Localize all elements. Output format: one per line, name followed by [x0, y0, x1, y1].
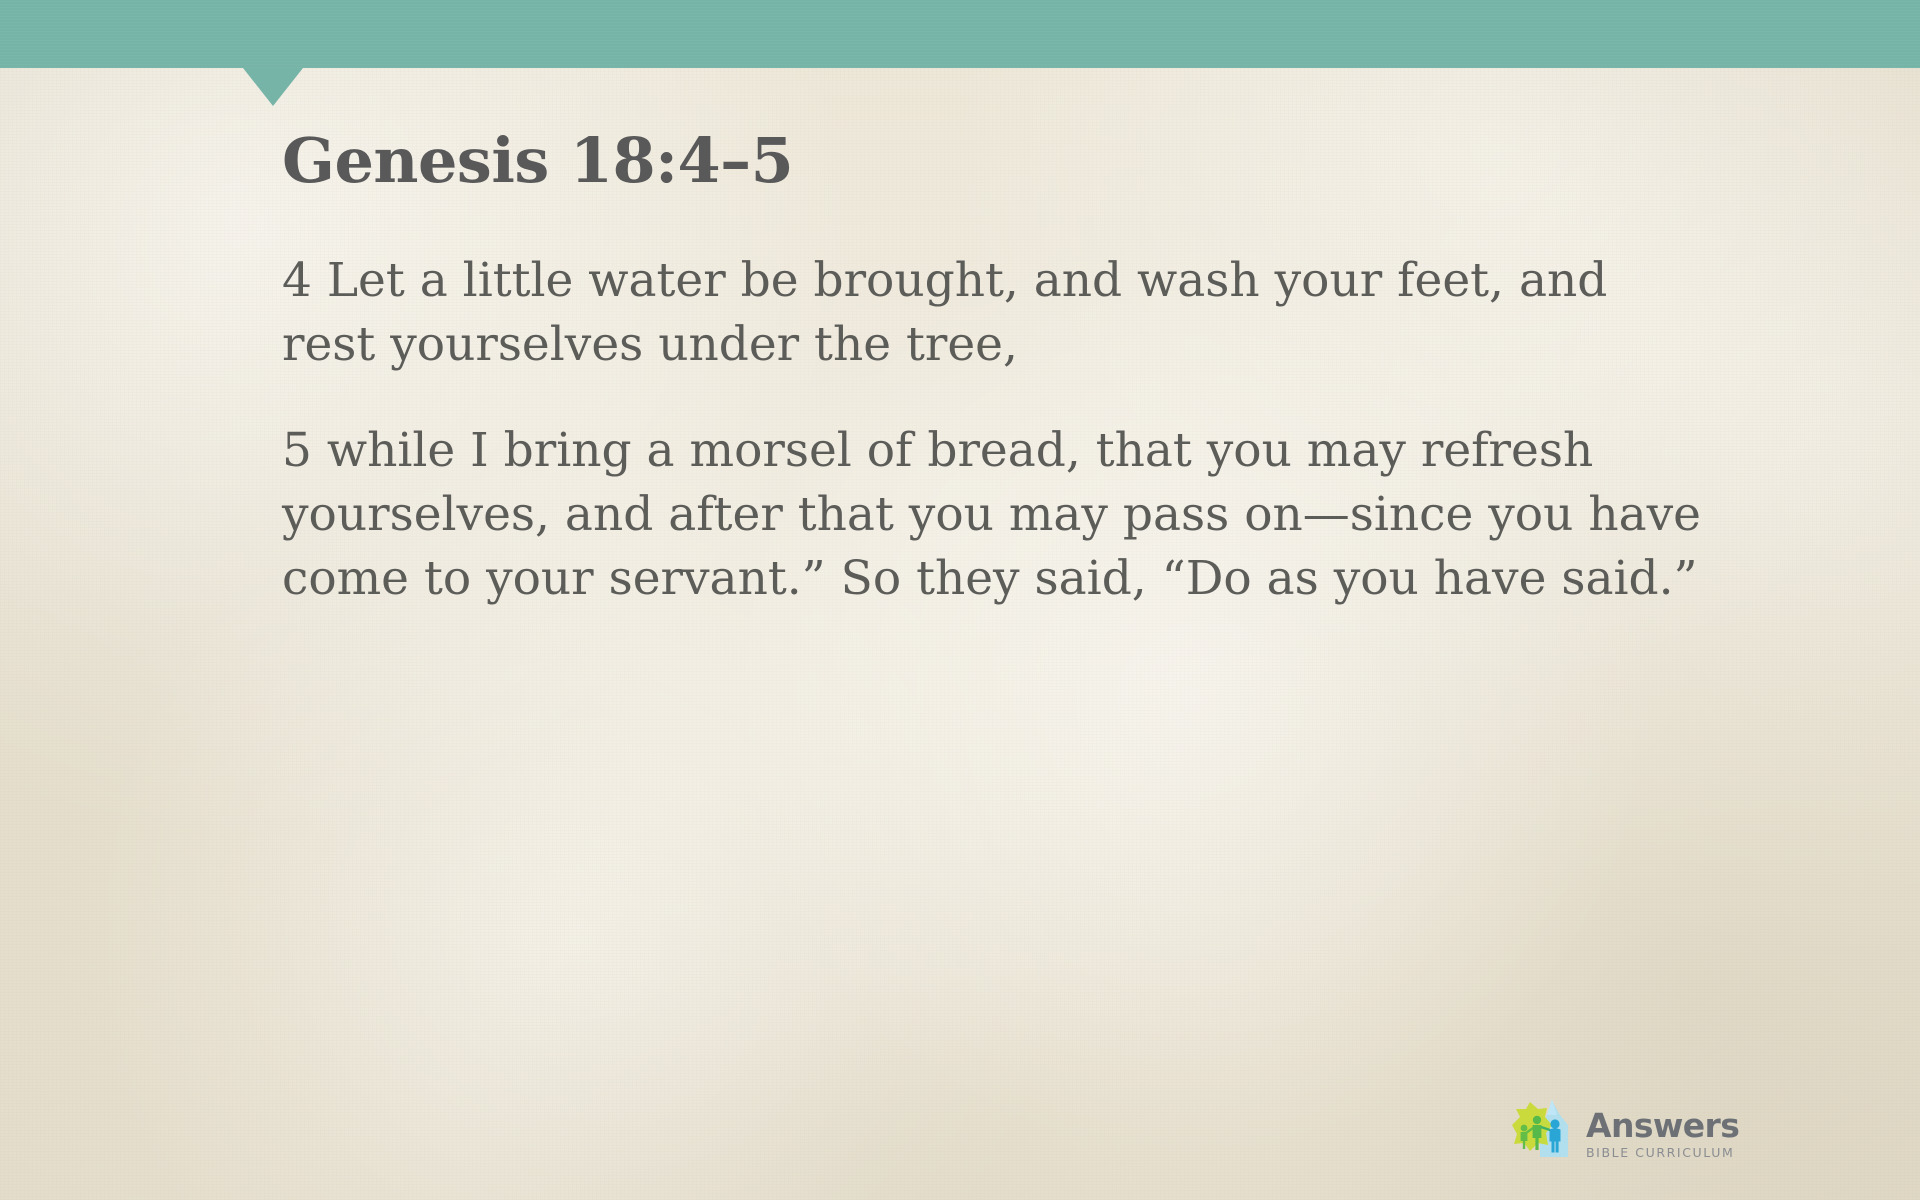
header-bar-texture [0, 0, 1920, 68]
logo-wordmark: Answers BIBLE CURRICULUM [1586, 1103, 1739, 1160]
house-family-church-icon [1506, 1095, 1578, 1167]
header-accent-bar [0, 0, 1920, 68]
logo-subtitle: BIBLE CURRICULUM [1586, 1147, 1739, 1160]
answers-bible-curriculum-logo: Answers BIBLE CURRICULUM [1506, 1092, 1734, 1170]
verse-paragraph-5: 5 while I bring a morsel of bread, that … [282, 419, 1752, 611]
slide-content: Genesis 18:4–5 4 Let a little water be b… [282, 128, 1782, 610]
page-title: Genesis 18:4–5 [282, 128, 1782, 195]
downward-triangle-notch-icon [243, 68, 303, 106]
verse-paragraph-4: 4 Let a little water be brought, and was… [282, 249, 1702, 377]
logo-name: Answers [1586, 1109, 1739, 1142]
slide-canvas: Genesis 18:4–5 4 Let a little water be b… [0, 0, 1920, 1200]
